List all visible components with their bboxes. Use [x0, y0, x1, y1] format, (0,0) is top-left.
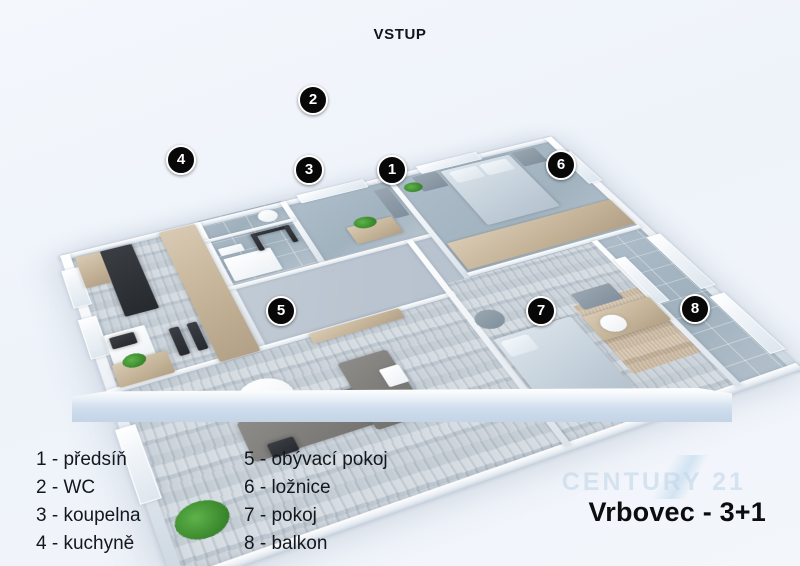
room-marker-6[interactable]: 6	[546, 150, 576, 180]
legend-item-6: 6 - ložnice	[244, 474, 456, 502]
legend-item-2: 2 - WC	[36, 474, 236, 502]
front-wall-band	[72, 388, 732, 422]
room-marker-2[interactable]: 2	[298, 85, 328, 115]
room-marker-3[interactable]: 3	[294, 155, 324, 185]
watermark-text: CENTURY 21	[562, 468, 746, 497]
room-marker-7[interactable]: 7	[526, 296, 556, 326]
legend-item-3: 3 - koupelna	[36, 502, 236, 530]
room-marker-5[interactable]: 5	[266, 296, 296, 326]
legend-item-1: 1 - předsíň	[36, 446, 236, 474]
legend-item-8: 8 - balkon	[244, 530, 456, 558]
floorplan-3d-view	[0, 0, 800, 440]
room-marker-4[interactable]: 4	[166, 145, 196, 175]
page-title: Vrbovec - 3+1	[589, 497, 766, 528]
legend: 1 - předsíň 2 - WC 3 - koupelna 4 - kuch…	[36, 446, 456, 558]
room-marker-1[interactable]: 1	[377, 155, 407, 185]
room-marker-8[interactable]: 8	[680, 294, 710, 324]
legend-item-7: 7 - pokoj	[244, 502, 456, 530]
legend-item-4: 4 - kuchyně	[36, 530, 236, 558]
floorplan-page: VSTUP	[0, 0, 800, 566]
watermark-swoosh-icon	[620, 455, 740, 499]
legend-item-5: 5 - obývací pokoj	[244, 446, 456, 474]
